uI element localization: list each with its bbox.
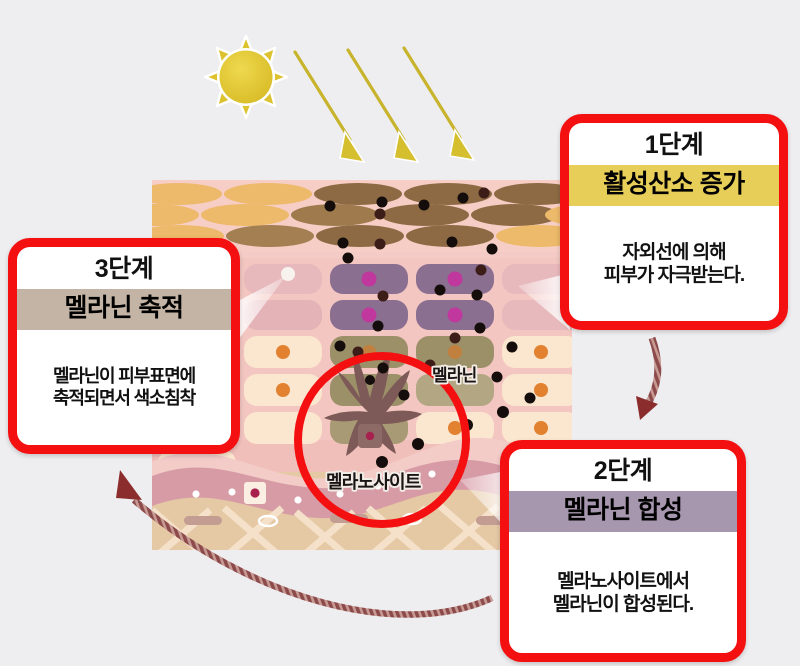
diagram-canvas: 멜라닌 멜라노사이트 1단계 활성산소 증가 자외선에 의해 피부가 자극받는다… (0, 0, 800, 666)
step-2-desc-line-1: 멜라노사이트에서 (557, 571, 689, 592)
step-1-desc-line-1: 자외선에 의해 (622, 242, 725, 263)
step-3-description: 멜라닌이 피부표면에 축적되면서 색소침착 (17, 330, 231, 445)
pointer-wedge-left-tip (281, 267, 295, 281)
step-2-description: 멜라노사이트에서 멜라닌이 합성된다. (509, 532, 737, 653)
step-3-desc-line-1: 멜라닌이 피부표면에 (53, 366, 195, 386)
flow-arrow-step1-to-step2 (636, 338, 658, 420)
step-2-desc-line-2: 멜라닌이 합성된다. (553, 594, 693, 615)
step-3-desc-line-2: 축적되면서 색소침착 (53, 388, 195, 408)
step-2-title: 2단계 (509, 449, 737, 491)
step-callout-2[interactable]: 2단계 멜라닌 합성 멜라노사이트에서 멜라닌이 합성된다. (500, 440, 746, 662)
melanin-label: 멜라닌 (432, 361, 477, 386)
step-1-band: 활성산소 증가 (569, 165, 779, 206)
step-3-title: 3단계 (17, 247, 231, 289)
step-1-desc-line-2: 피부가 자극받는다. (604, 265, 744, 286)
melanocyte-label: 멜라노사이트 (326, 468, 421, 494)
step-1-description: 자외선에 의해 피부가 자극받는다. (569, 206, 779, 321)
step-callout-1[interactable]: 1단계 활성산소 증가 자외선에 의해 피부가 자극받는다. (560, 114, 788, 330)
step-2-band: 멜라닌 합성 (509, 491, 737, 532)
uv-ray-arrows (295, 48, 474, 162)
step-callout-3[interactable]: 3단계 멜라닌 축적 멜라닌이 피부표면에 축적되면서 색소침착 (8, 238, 240, 454)
step-1-title: 1단계 (569, 123, 779, 165)
step-3-band: 멜라닌 축적 (17, 289, 231, 330)
sun-icon (205, 36, 287, 118)
